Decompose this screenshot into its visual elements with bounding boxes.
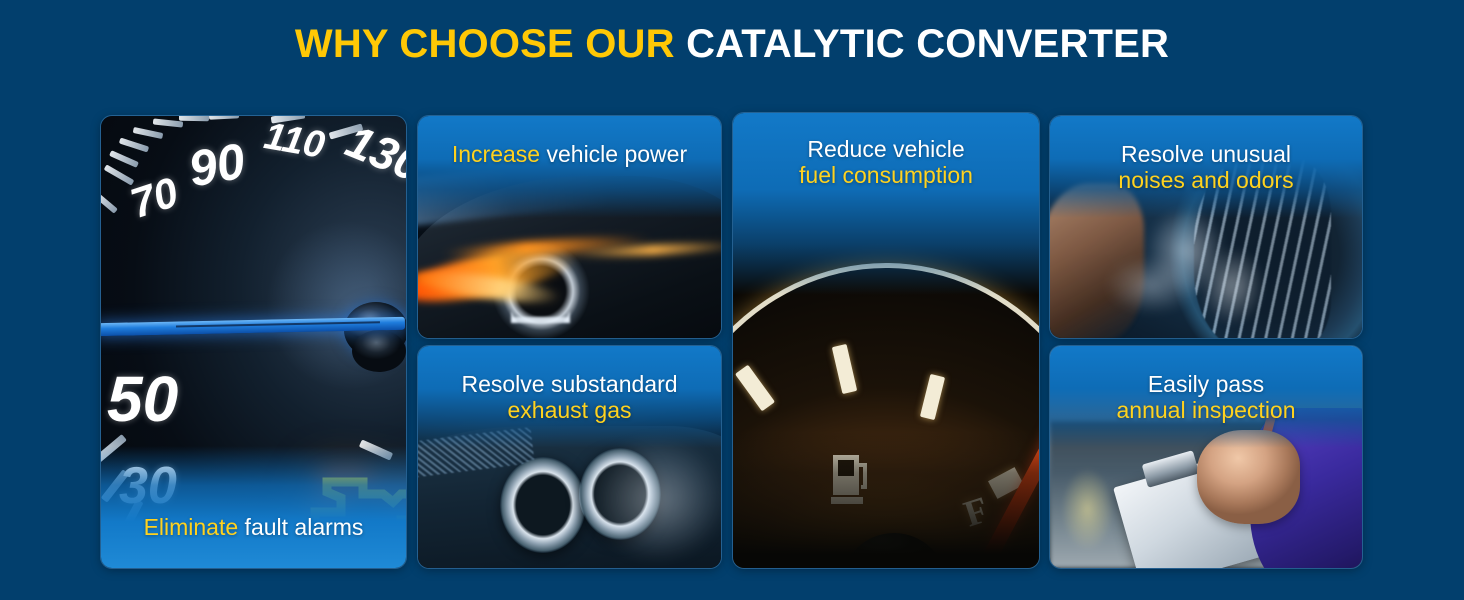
card-caption: Resolve substandard exhaust gas	[418, 372, 721, 424]
title-main: CATALYTIC CONVERTER	[686, 22, 1169, 66]
caption-text: vehicle power	[540, 141, 687, 167]
feature-card-resolve-unusual-noises-odors[interactable]: Resolve unusual noises and odors	[1050, 116, 1362, 338]
dial-number-70: 70	[125, 168, 184, 228]
page-title: WHY CHOOSE OUR CATALYTIC CONVERTER	[0, 22, 1464, 67]
dial-number-110: 110	[261, 116, 328, 168]
caption-line-2: fuel consumption	[733, 163, 1039, 189]
title-highlight: WHY CHOOSE OUR	[295, 22, 675, 66]
dial-number-90: 90	[184, 132, 249, 199]
caption-line-2: noises and odors	[1050, 168, 1362, 194]
feature-card-reduce-fuel-consumption[interactable]: F Reduce vehicle fuel consumption	[733, 113, 1039, 568]
caption-line-1: Reduce vehicle	[733, 137, 1039, 163]
feature-card-eliminate-fault-alarms[interactable]: 50 30 70 90 110 130 Eliminate fault alar…	[101, 116, 406, 568]
card-caption: Eliminate fault alarms	[101, 515, 406, 541]
caption-line-1: Resolve substandard	[418, 372, 721, 398]
caption-text: fault alarms	[238, 514, 363, 540]
card-caption: Reduce vehicle fuel consumption	[733, 137, 1039, 189]
caption-line: Eliminate fault alarms	[101, 515, 406, 541]
caption-line: Increase vehicle power	[418, 142, 721, 168]
caption-highlight: Increase	[452, 141, 540, 167]
feature-card-easily-pass-annual-inspection[interactable]: Easily pass annual inspection	[1050, 346, 1362, 568]
caption-line-1: Easily pass	[1050, 372, 1362, 398]
card-caption: Easily pass annual inspection	[1050, 372, 1362, 424]
feature-card-increase-vehicle-power[interactable]: Increase vehicle power	[418, 116, 721, 338]
caption-line-2: exhaust gas	[418, 398, 721, 424]
dial-number-50: 50	[107, 362, 178, 436]
feature-card-resolve-substandard-exhaust-gas[interactable]: Resolve substandard exhaust gas	[418, 346, 721, 568]
caption-line-1: Resolve unusual	[1050, 142, 1362, 168]
card-caption: Resolve unusual noises and odors	[1050, 142, 1362, 194]
caption-highlight: Eliminate	[144, 514, 239, 540]
speedometer-image: 50 30 70 90 110 130	[101, 116, 406, 568]
card-caption: Increase vehicle power	[418, 142, 721, 168]
caption-line-2: annual inspection	[1050, 398, 1362, 424]
